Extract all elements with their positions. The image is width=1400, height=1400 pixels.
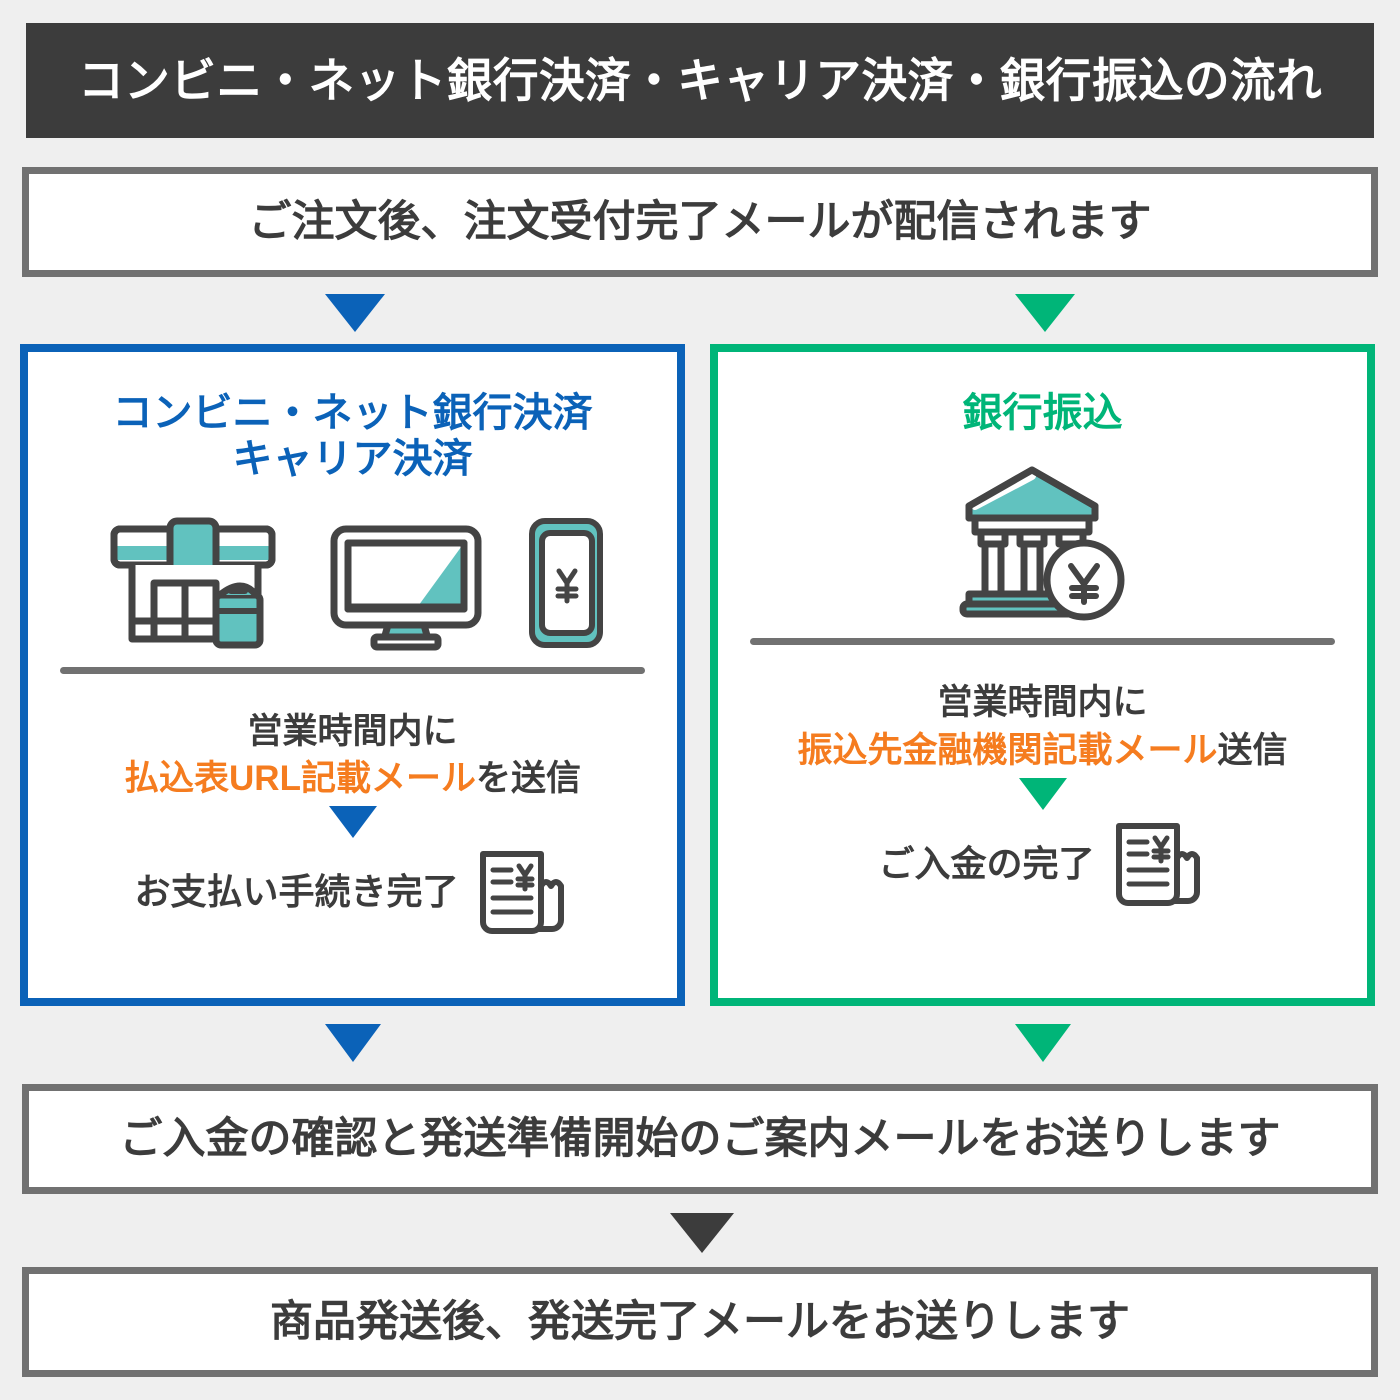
arrow-down-from-konbini-icon (325, 1024, 381, 1062)
method-heading-konbini: コンビニ・ネット銀行決済キャリア決済 (113, 390, 593, 483)
panel-divider-konbini (60, 667, 645, 674)
step-payment-confirmed-label: ご入金の確認と発送準備開始のご案内メールをお送りします (120, 1118, 1281, 1161)
method-panel-furikomi: 銀行振込 (710, 344, 1375, 1006)
konbini-notice-prefix: 営業時間内に (247, 712, 457, 751)
step-shipped-label: 商品発送後、発送完了メールをお送りします (270, 1301, 1130, 1344)
konbini-complete-label: お支払い手続き完了 (134, 874, 458, 910)
convenience-store-icon (98, 511, 288, 651)
method-heading-konbini-line2: キャリア決済 (233, 437, 473, 481)
arrow-down-furikomi-complete-icon (1019, 778, 1067, 810)
method-heading-furikomi: 銀行振込 (963, 390, 1123, 436)
furikomi-notice: 営業時間内に 振込先金融機関記載メール送信 (797, 679, 1287, 774)
konbini-notice: 営業時間内に 払込表URL記載メールを送信 (124, 708, 581, 803)
method-heading-furikomi-line1: 銀行振込 (963, 391, 1123, 435)
flow-diagram-canvas: コンビニ・ネット銀行決済・キャリア決済・銀行振込の流れ ご注文後、注文受付完了メ… (0, 0, 1400, 1400)
method-panel-konbini: コンビニ・ネット銀行決済キャリア決済 (20, 344, 685, 1006)
furikomi-complete-row: ご入金の完了 (718, 816, 1367, 912)
furikomi-notice-prefix: 営業時間内に (937, 683, 1147, 722)
step-payment-confirmed: ご入金の確認と発送準備開始のご案内メールをお送りします (22, 1084, 1378, 1194)
furikomi-notice-suffix: 送信 (1218, 731, 1288, 770)
step-order-label: ご注文後、注文受付完了メールが配信されます (249, 201, 1152, 244)
furikomi-complete-label: ご入金の完了 (878, 846, 1094, 882)
receipt-yen-icon (1103, 816, 1207, 912)
panel-divider-furikomi (750, 638, 1335, 645)
arrow-down-to-furikomi-icon (1015, 294, 1075, 332)
page-title: コンビニ・ネット銀行決済・キャリア決済・銀行振込の流れ (78, 57, 1322, 104)
method-heading-konbini-line1: コンビニ・ネット銀行決済 (113, 391, 593, 435)
arrow-down-konbini-complete-icon (329, 806, 377, 838)
bank-yen-icon (953, 462, 1133, 622)
page-title-bar: コンビニ・ネット銀行決済・キャリア決済・銀行振込の流れ (26, 23, 1374, 138)
step-order-received: ご注文後、注文受付完了メールが配信されます (22, 167, 1378, 277)
step-shipped: 商品発送後、発送完了メールをお送りします (22, 1267, 1378, 1377)
furikomi-notice-highlight: 振込先金融機関記載メール (797, 731, 1217, 770)
receipt-yen-icon (467, 844, 571, 940)
furikomi-icon-row (718, 462, 1367, 622)
arrow-down-to-konbini-icon (325, 294, 385, 332)
smartphone-yen-icon (524, 515, 608, 651)
konbini-icon-row (28, 501, 677, 651)
arrow-down-to-shipped-icon (670, 1213, 734, 1253)
konbini-complete-row: お支払い手続き完了 (28, 844, 677, 940)
konbini-notice-highlight: 払込表URL記載メール (124, 759, 476, 798)
konbini-notice-suffix: を送信 (476, 759, 581, 798)
arrow-down-from-furikomi-icon (1015, 1024, 1071, 1062)
desktop-monitor-icon (326, 521, 486, 651)
